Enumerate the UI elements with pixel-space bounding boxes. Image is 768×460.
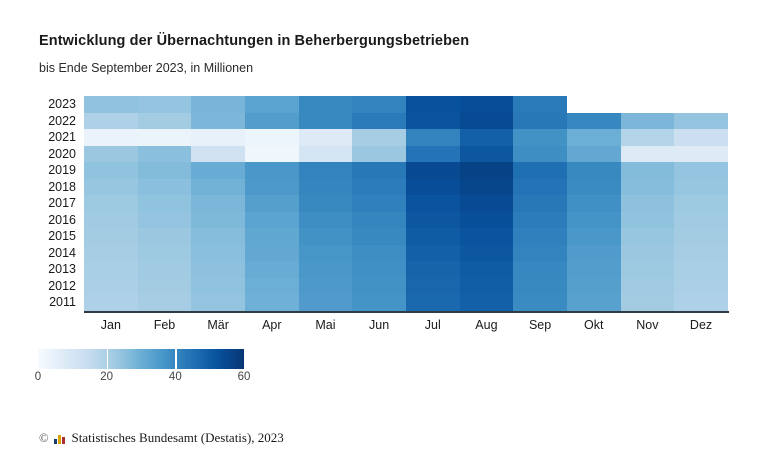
x-axis-labels: JanFebMärAprMaiJunJulAugSepOktNovDez <box>84 315 728 335</box>
heatmap-cell-2016-Nov <box>621 212 675 229</box>
heatmap-cell-2016-Jun <box>352 212 406 229</box>
heatmap-cell-2018-Okt <box>567 179 621 196</box>
heatmap-cell-2021-Jan <box>84 129 138 146</box>
heatmap-cell-2016-Sep <box>513 212 567 229</box>
heatmap-cell-2019-Jul <box>406 162 460 179</box>
x-axis-label-Aug: Aug <box>460 315 514 335</box>
heatmap-cell-2014-Apr <box>245 245 299 262</box>
heatmap-cell-2018-Apr <box>245 179 299 196</box>
x-axis-label-Jan: Jan <box>84 315 138 335</box>
heatmap-cell-2011-Jun <box>352 294 406 311</box>
heatmap-cell-2020-Feb <box>138 146 192 163</box>
heatmap-cell-2016-Mai <box>299 212 353 229</box>
x-axis-label-Feb: Feb <box>138 315 192 335</box>
y-axis-label-2023: 2023 <box>0 96 76 113</box>
heatmap-cell-2013-Okt <box>567 261 621 278</box>
heatmap-cell-2012-Aug <box>460 278 514 295</box>
heatmap-cell-2022-Aug <box>460 113 514 130</box>
heatmap-cell-2019-Mai <box>299 162 353 179</box>
colorbar-label-60: 60 <box>238 371 251 383</box>
heatmap-cell-2016-Dez <box>674 212 728 229</box>
footer-attribution: © Statistisches Bundesamt (Destatis), 20… <box>39 430 284 446</box>
heatmap-cell-2021-Feb <box>138 129 192 146</box>
heatmap-grid <box>84 96 728 311</box>
heatmap-cell-2018-Sep <box>513 179 567 196</box>
heatmap-cell-2020-Mai <box>299 146 353 163</box>
y-axis-label-2012: 2012 <box>0 278 76 295</box>
heatmap-cell-2022-Jun <box>352 113 406 130</box>
heatmap-cell-2014-Sep <box>513 245 567 262</box>
page-subtitle: bis Ende September 2023, in Millionen <box>39 61 253 75</box>
heatmap-cell-2013-Apr <box>245 261 299 278</box>
x-axis-line <box>84 311 729 313</box>
y-axis-label-2014: 2014 <box>0 245 76 262</box>
heatmap-cell-2011-Feb <box>138 294 192 311</box>
heatmap-cell-2012-Sep <box>513 278 567 295</box>
copyright-icon: © <box>39 431 49 446</box>
heatmap-cell-2014-Okt <box>567 245 621 262</box>
heatmap-cell-2018-Aug <box>460 179 514 196</box>
heatmap-cell-2015-Mär <box>191 228 245 245</box>
y-axis-label-2016: 2016 <box>0 212 76 229</box>
heatmap-cell-2018-Dez <box>674 179 728 196</box>
heatmap-cell-2023-Sep <box>513 96 567 113</box>
heatmap-cell-2020-Dez <box>674 146 728 163</box>
heatmap-row-2018 <box>84 179 728 196</box>
heatmap-cell-2011-Mär <box>191 294 245 311</box>
heatmap-cell-2022-Feb <box>138 113 192 130</box>
colorbar-label-0: 0 <box>35 371 41 383</box>
heatmap-cell-2017-Feb <box>138 195 192 212</box>
heatmap-cell-2020-Jul <box>406 146 460 163</box>
heatmap-cell-2021-Apr <box>245 129 299 146</box>
heatmap-cell-2023-Aug <box>460 96 514 113</box>
heatmap-cell-2015-Okt <box>567 228 621 245</box>
y-axis-label-2017: 2017 <box>0 195 76 212</box>
heatmap-cell-2017-Jul <box>406 195 460 212</box>
heatmap-cell-2017-Okt <box>567 195 621 212</box>
heatmap-cell-2017-Nov <box>621 195 675 212</box>
heatmap-cell-2011-Apr <box>245 294 299 311</box>
heatmap-cell-2014-Feb <box>138 245 192 262</box>
heatmap-cell-2019-Apr <box>245 162 299 179</box>
heatmap-cell-2013-Sep <box>513 261 567 278</box>
heatmap-cell-2022-Jan <box>84 113 138 130</box>
heatmap-cell-2019-Mär <box>191 162 245 179</box>
heatmap-cell-2021-Nov <box>621 129 675 146</box>
y-axis-label-2011: 2011 <box>0 294 76 311</box>
heatmap-cell-2012-Mär <box>191 278 245 295</box>
heatmap-cell-2023-Okt <box>567 96 621 113</box>
heatmap-cell-2012-Apr <box>245 278 299 295</box>
heatmap-cell-2016-Feb <box>138 212 192 229</box>
heatmap-cell-2013-Feb <box>138 261 192 278</box>
heatmap-cell-2017-Sep <box>513 195 567 212</box>
heatmap-row-2015 <box>84 228 728 245</box>
heatmap-cell-2015-Dez <box>674 228 728 245</box>
heatmap-cell-2021-Aug <box>460 129 514 146</box>
heatmap-cell-2012-Jul <box>406 278 460 295</box>
heatmap-cell-2015-Jan <box>84 228 138 245</box>
heatmap-cell-2023-Dez <box>674 96 728 113</box>
x-axis-label-Apr: Apr <box>245 315 299 335</box>
colorbar <box>38 349 244 369</box>
heatmap-row-2019 <box>84 162 728 179</box>
heatmap-cell-2012-Jun <box>352 278 406 295</box>
heatmap-cell-2016-Jul <box>406 212 460 229</box>
x-axis-label-Mär: Mär <box>191 315 245 335</box>
heatmap-cell-2018-Mär <box>191 179 245 196</box>
heatmap-cell-2022-Mär <box>191 113 245 130</box>
heatmap-cell-2011-Jan <box>84 294 138 311</box>
heatmap-cell-2016-Apr <box>245 212 299 229</box>
heatmap-cell-2021-Mär <box>191 129 245 146</box>
heatmap-cell-2013-Mär <box>191 261 245 278</box>
heatmap-cell-2022-Okt <box>567 113 621 130</box>
y-axis-labels: 2023202220212020201920182017201620152014… <box>0 96 76 311</box>
heatmap-cell-2012-Mai <box>299 278 353 295</box>
y-axis-label-2020: 2020 <box>0 146 76 163</box>
heatmap-cell-2011-Sep <box>513 294 567 311</box>
colorbar-tick-20 <box>107 349 109 369</box>
heatmap-cell-2019-Feb <box>138 162 192 179</box>
heatmap-cell-2014-Aug <box>460 245 514 262</box>
heatmap-row-2017 <box>84 195 728 212</box>
heatmap-cell-2015-Aug <box>460 228 514 245</box>
heatmap-cell-2014-Mai <box>299 245 353 262</box>
heatmap-row-2016 <box>84 212 728 229</box>
heatmap-cell-2013-Jan <box>84 261 138 278</box>
heatmap-cell-2022-Apr <box>245 113 299 130</box>
heatmap-cell-2014-Dez <box>674 245 728 262</box>
y-axis-label-2022: 2022 <box>0 113 76 130</box>
heatmap-cell-2019-Okt <box>567 162 621 179</box>
heatmap-cell-2012-Nov <box>621 278 675 295</box>
heatmap-cell-2021-Sep <box>513 129 567 146</box>
x-axis-label-Mai: Mai <box>299 315 353 335</box>
heatmap-cell-2020-Nov <box>621 146 675 163</box>
heatmap-cell-2022-Mai <box>299 113 353 130</box>
heatmap-cell-2023-Apr <box>245 96 299 113</box>
colorbar-label-40: 40 <box>169 371 182 383</box>
heatmap-cell-2012-Okt <box>567 278 621 295</box>
heatmap-cell-2019-Jan <box>84 162 138 179</box>
heatmap-cell-2015-Sep <box>513 228 567 245</box>
heatmap-cell-2012-Feb <box>138 278 192 295</box>
heatmap-cell-2019-Aug <box>460 162 514 179</box>
heatmap-cell-2023-Mai <box>299 96 353 113</box>
heatmap-cell-2023-Nov <box>621 96 675 113</box>
heatmap-cell-2020-Okt <box>567 146 621 163</box>
heatmap-cell-2020-Mär <box>191 146 245 163</box>
heatmap-cell-2019-Jun <box>352 162 406 179</box>
heatmap-cell-2014-Jan <box>84 245 138 262</box>
heatmap-cell-2011-Dez <box>674 294 728 311</box>
heatmap-cell-2022-Sep <box>513 113 567 130</box>
heatmap-cell-2017-Mai <box>299 195 353 212</box>
heatmap-cell-2018-Jul <box>406 179 460 196</box>
heatmap-cell-2018-Mai <box>299 179 353 196</box>
x-axis-label-Sep: Sep <box>513 315 567 335</box>
heatmap-cell-2015-Feb <box>138 228 192 245</box>
x-axis-label-Jul: Jul <box>406 315 460 335</box>
heatmap-cell-2014-Jul <box>406 245 460 262</box>
heatmap-cell-2021-Dez <box>674 129 728 146</box>
y-axis-label-2021: 2021 <box>0 129 76 146</box>
heatmap-cell-2014-Mär <box>191 245 245 262</box>
heatmap-cell-2018-Jun <box>352 179 406 196</box>
heatmap-row-2012 <box>84 278 728 295</box>
y-axis-label-2013: 2013 <box>0 261 76 278</box>
heatmap-cell-2013-Jun <box>352 261 406 278</box>
heatmap-row-2022 <box>84 113 728 130</box>
heatmap-cell-2011-Mai <box>299 294 353 311</box>
heatmap-cell-2020-Jan <box>84 146 138 163</box>
heatmap-cell-2021-Okt <box>567 129 621 146</box>
y-axis-label-2015: 2015 <box>0 228 76 245</box>
heatmap-cell-2017-Jan <box>84 195 138 212</box>
heatmap-cell-2017-Jun <box>352 195 406 212</box>
heatmap-cell-2016-Okt <box>567 212 621 229</box>
page-title: Entwicklung der Übernachtungen in Beherb… <box>39 33 469 49</box>
colorbar-tick-labels: 0204060 <box>38 371 278 387</box>
heatmap-cell-2013-Nov <box>621 261 675 278</box>
heatmap-cell-2014-Jun <box>352 245 406 262</box>
heatmap-row-2014 <box>84 245 728 262</box>
heatmap-cell-2016-Aug <box>460 212 514 229</box>
heatmap-cell-2011-Okt <box>567 294 621 311</box>
heatmap-cell-2013-Mai <box>299 261 353 278</box>
x-axis-label-Dez: Dez <box>674 315 728 335</box>
heatmap-cell-2015-Mai <box>299 228 353 245</box>
destatis-logo-icon <box>54 433 67 444</box>
heatmap-cell-2015-Apr <box>245 228 299 245</box>
heatmap-cell-2018-Feb <box>138 179 192 196</box>
heatmap-cell-2019-Sep <box>513 162 567 179</box>
x-axis-label-Okt: Okt <box>567 315 621 335</box>
y-axis-label-2019: 2019 <box>0 162 76 179</box>
heatmap-cell-2021-Mai <box>299 129 353 146</box>
x-axis-label-Jun: Jun <box>352 315 406 335</box>
heatmap-cell-2012-Jan <box>84 278 138 295</box>
heatmap-cell-2017-Mär <box>191 195 245 212</box>
heatmap-cell-2023-Jul <box>406 96 460 113</box>
heatmap-cell-2018-Jan <box>84 179 138 196</box>
colorbar-gradient <box>38 349 244 369</box>
heatmap-cell-2016-Jan <box>84 212 138 229</box>
heatmap-cell-2020-Aug <box>460 146 514 163</box>
heatmap-cell-2023-Jan <box>84 96 138 113</box>
colorbar-label-20: 20 <box>100 371 113 383</box>
heatmap-row-2021 <box>84 129 728 146</box>
heatmap-cell-2015-Jun <box>352 228 406 245</box>
heatmap-cell-2022-Dez <box>674 113 728 130</box>
heatmap-row-2020 <box>84 146 728 163</box>
heatmap-cell-2014-Nov <box>621 245 675 262</box>
footer-text: Statistisches Bundesamt (Destatis), 2023 <box>72 430 284 446</box>
heatmap-cell-2015-Jul <box>406 228 460 245</box>
heatmap-cell-2020-Jun <box>352 146 406 163</box>
heatmap-cell-2011-Aug <box>460 294 514 311</box>
colorbar-tick-40 <box>175 349 177 369</box>
heatmap-cell-2019-Nov <box>621 162 675 179</box>
heatmap-row-2023 <box>84 96 728 113</box>
heatmap-cell-2022-Jul <box>406 113 460 130</box>
heatmap-cell-2021-Jul <box>406 129 460 146</box>
heatmap-cell-2017-Dez <box>674 195 728 212</box>
heatmap-cell-2020-Sep <box>513 146 567 163</box>
heatmap-cell-2015-Nov <box>621 228 675 245</box>
heatmap-cell-2013-Dez <box>674 261 728 278</box>
heatmap-cell-2011-Nov <box>621 294 675 311</box>
heatmap-cell-2013-Aug <box>460 261 514 278</box>
heatmap-cell-2019-Dez <box>674 162 728 179</box>
heatmap-row-2013 <box>84 261 728 278</box>
heatmap-cell-2023-Feb <box>138 96 192 113</box>
x-axis-label-Nov: Nov <box>621 315 675 335</box>
heatmap-cell-2012-Dez <box>674 278 728 295</box>
heatmap-cell-2018-Nov <box>621 179 675 196</box>
heatmap-cell-2023-Mär <box>191 96 245 113</box>
heatmap-cell-2020-Apr <box>245 146 299 163</box>
y-axis-label-2018: 2018 <box>0 179 76 196</box>
heatmap-cell-2011-Jul <box>406 294 460 311</box>
heatmap-cell-2022-Nov <box>621 113 675 130</box>
heatmap-cell-2021-Jun <box>352 129 406 146</box>
heatmap-cell-2023-Jun <box>352 96 406 113</box>
heatmap-figure: Entwicklung der Übernachtungen in Beherb… <box>0 0 768 460</box>
heatmap-cell-2013-Jul <box>406 261 460 278</box>
heatmap-cell-2016-Mär <box>191 212 245 229</box>
heatmap-row-2011 <box>84 294 728 311</box>
heatmap-cell-2017-Aug <box>460 195 514 212</box>
heatmap-cell-2017-Apr <box>245 195 299 212</box>
